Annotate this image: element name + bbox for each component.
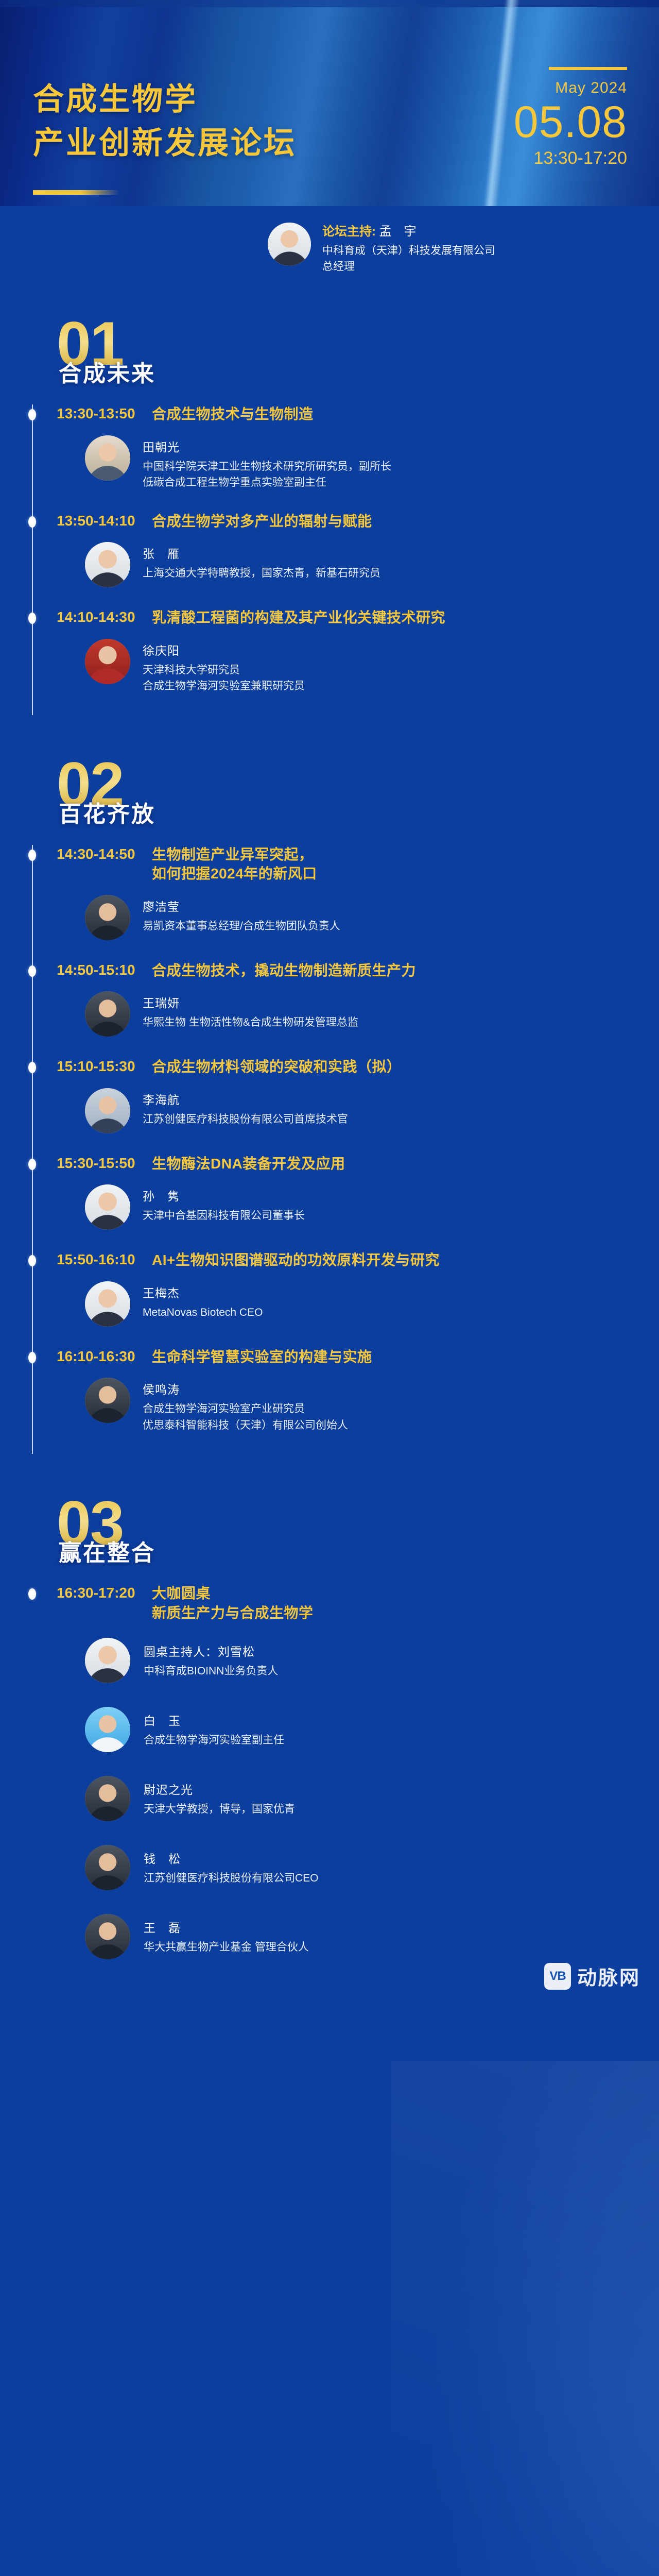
speaker-block: 徐庆阳 天津科技大学研究员 合成生物学海河实验室兼职研究员 — [57, 639, 659, 694]
speaker-block: 廖洁莹 易凯资本董事总经理/合成生物团队负责人 — [57, 895, 659, 940]
speaker-name: 侯鸣涛 — [143, 1380, 348, 1397]
session-time: 16:10-16:30 — [57, 1347, 152, 1366]
timeline-dot-icon — [28, 409, 36, 420]
roundtable-participants: 圆桌主持人：刘雪松 中科育成BIOINN业务负责人 白 玉 合成生物学海河实验室… — [57, 1638, 659, 1959]
session-time: 14:30-14:50 — [57, 845, 152, 864]
speaker-block: 王梅杰 MetaNovas Biotech CEO — [57, 1281, 659, 1327]
participant-org: 华大共赢生物产业基金 管理合伙人 — [144, 1940, 309, 1955]
session-time: 13:30-13:50 — [57, 404, 152, 423]
session-title: 合成生物技术，撬动生物制造新质生产力 — [152, 962, 416, 978]
section-title: 赢在整合 — [59, 1534, 155, 1567]
timeline-dot-icon — [28, 516, 36, 528]
avatar — [85, 435, 130, 481]
event-month: May 2024 — [514, 79, 627, 97]
participant-name: 白 玉 — [144, 1711, 284, 1728]
session-time: 14:10-14:30 — [57, 608, 152, 627]
session-title: 生物制造产业异军突起， — [152, 846, 314, 862]
event-day: 05.08 — [514, 100, 627, 144]
speaker-block: 侯鸣涛 合成生物学海河实验室产业研究员 优思泰科智能科技（天津）有限公司创始人 — [57, 1378, 659, 1433]
speaker-org-line2: 优思泰科智能科技（天津）有限公司创始人 — [143, 1417, 348, 1434]
avatar — [85, 991, 130, 1037]
speaker-org: MetaNovas Biotech CEO — [143, 1307, 263, 1318]
session-title: 生命科学智慧实验室的构建与实施 — [152, 1349, 372, 1365]
speaker-name: 张 雁 — [143, 544, 380, 562]
timeline-section-02: 14:30-14:50 生物制造产业异军突起， 如何把握2024年的新风口 廖洁… — [0, 845, 659, 1454]
timeline-dot-icon — [28, 1255, 36, 1266]
session-item[interactable]: 15:10-15:30 合成生物材料领域的突破和实践（拟） 李海航 江苏创健医疗… — [57, 1057, 659, 1154]
participant-org: 天津大学教授，博导，国家优青 — [144, 1802, 295, 1817]
session-title-line2: 如何把握2024年的新风口 — [152, 864, 317, 884]
speaker-org-line2: 合成生物学海河实验室兼职研究员 — [143, 678, 305, 694]
speaker-name: 王瑞妍 — [143, 993, 358, 1011]
avatar — [85, 1845, 130, 1890]
date-rule-decoration — [549, 67, 627, 70]
speaker-name: 孙 隽 — [143, 1187, 305, 1204]
session-time: 16:30-17:20 — [57, 1584, 152, 1603]
header-top-bar — [0, 0, 659, 7]
poster-title: 合成生物学 产业创新发展论坛 — [33, 77, 297, 165]
title-underline-decoration — [33, 190, 119, 195]
list-item: 白 玉 合成生物学海河实验室副主任 — [85, 1707, 659, 1752]
list-item: 钱 松 江苏创健医疗科技股份有限公司CEO — [85, 1845, 659, 1890]
event-date-block: May 2024 05.08 13:30-17:20 — [514, 67, 627, 168]
timeline-section-01: 13:30-13:50 合成生物技术与生物制造 田朝光 中国科学院天津工业生物技… — [0, 404, 659, 715]
speaker-org: 中国科学院天津工业生物技术研究所研究员，副所长 — [143, 461, 391, 472]
avatar — [85, 895, 130, 940]
speaker-name: 廖洁莹 — [143, 897, 340, 914]
timeline-dot-icon — [28, 1352, 36, 1363]
poster-body: 论坛主持: 孟 宇 中科育成（天津）科技发展有限公司 总经理 01 合成未来 1… — [0, 206, 659, 2004]
session-item[interactable]: 15:50-16:10 AI+生物知识图谱驱动的功效原料开发与研究 王梅杰 Me… — [57, 1250, 659, 1347]
session-time: 15:10-15:30 — [57, 1057, 152, 1076]
avatar — [85, 1378, 130, 1423]
speaker-org: 天津科技大学研究员 — [143, 664, 240, 676]
participant-org: 合成生物学海河实验室副主任 — [144, 1733, 284, 1748]
section-header-02: 02 百花齐放 — [57, 753, 659, 845]
session-time: 15:30-15:50 — [57, 1154, 152, 1173]
brand-name: 动脉网 — [577, 1962, 640, 1990]
participant-name: 圆桌主持人：刘雪松 — [144, 1642, 278, 1659]
session-title: 合成生物技术与生物制造 — [152, 406, 314, 422]
event-time-range: 13:30-17:20 — [514, 148, 627, 168]
session-time: 14:50-15:10 — [57, 961, 152, 980]
speaker-name: 王梅杰 — [143, 1283, 263, 1301]
brand-watermark: VB 动脉网 — [544, 1962, 640, 1990]
avatar — [85, 1281, 130, 1327]
speaker-name: 田朝光 — [143, 437, 391, 455]
session-item[interactable]: 15:30-15:50 生物酶法DNA装备开发及应用 孙 隽 天津中合基因科技有… — [57, 1154, 659, 1251]
roundtable-session[interactable]: 16:30-17:20 大咖圆桌 新质生产力与合成生物学 圆桌主持人：刘雪松 中… — [57, 1584, 659, 2004]
host-label: 论坛主持: — [322, 225, 376, 239]
session-time: 15:50-16:10 — [57, 1250, 152, 1269]
timeline-dot-icon — [28, 1062, 36, 1073]
speaker-org: 江苏创健医疗科技股份有限公司首席技术官 — [143, 1113, 348, 1125]
session-item[interactable]: 16:10-16:30 生命科学智慧实验室的构建与实施 侯鸣涛 合成生物学海河实… — [57, 1347, 659, 1454]
avatar — [85, 1914, 130, 1959]
speaker-org: 上海交通大学特聘教授，国家杰青，新基石研究员 — [143, 567, 380, 579]
session-title-line2: 新质生产力与合成生物学 — [152, 1603, 314, 1623]
participant-name: 王 磊 — [144, 1918, 309, 1936]
timeline-section-03: 16:30-17:20 大咖圆桌 新质生产力与合成生物学 圆桌主持人：刘雪松 中… — [0, 1584, 659, 2004]
timeline-dot-icon — [28, 1159, 36, 1170]
list-item: 圆桌主持人：刘雪松 中科育成BIOINN业务负责人 — [85, 1638, 659, 1683]
avatar — [85, 1184, 130, 1230]
poster-header: 合成生物学 产业创新发展论坛 May 2024 05.08 13:30-17:2… — [0, 0, 659, 206]
timeline-dot-icon — [28, 850, 36, 861]
session-item[interactable]: 13:30-13:50 合成生物技术与生物制造 田朝光 中国科学院天津工业生物技… — [57, 404, 659, 512]
session-title: 合成生物材料领域的突破和实践（拟） — [152, 1059, 402, 1075]
session-title: 生物酶法DNA装备开发及应用 — [152, 1156, 345, 1172]
speaker-name: 李海航 — [143, 1090, 348, 1108]
speaker-org: 合成生物学海河实验室产业研究员 — [143, 1403, 305, 1415]
section-title: 百花齐放 — [59, 795, 155, 828]
background-sheen-decoration — [391, 2061, 659, 2576]
speaker-name: 徐庆阳 — [143, 641, 305, 658]
poster-title-line1: 合成生物学 — [33, 82, 198, 116]
speaker-block: 李海航 江苏创健医疗科技股份有限公司首席技术官 — [57, 1088, 659, 1133]
avatar — [85, 639, 130, 684]
section-header-03: 03 赢在整合 — [57, 1492, 659, 1584]
participant-org: 中科育成BIOINN业务负责人 — [144, 1664, 278, 1679]
list-item: 尉迟之光 天津大学教授，博导，国家优青 — [85, 1776, 659, 1821]
timeline-dot-icon — [28, 1588, 36, 1600]
participant-org: 江苏创健医疗科技股份有限公司CEO — [144, 1871, 319, 1886]
session-title: 合成生物学对多产业的辐射与赋能 — [152, 513, 372, 529]
speaker-block: 孙 隽 天津中合基因科技有限公司董事长 — [57, 1184, 659, 1230]
speaker-block: 王瑞妍 华熙生物 生物活性物&合成生物研发管理总监 — [57, 991, 659, 1037]
host-org: 中科育成（天津）科技发展有限公司 — [322, 245, 495, 257]
timeline-dot-icon — [28, 965, 36, 977]
avatar — [85, 1776, 130, 1821]
session-title: 乳清酸工程菌的构建及其产业化关键技术研究 — [152, 609, 445, 625]
timeline-dot-icon — [28, 613, 36, 624]
section-header-01: 01 合成未来 — [57, 313, 659, 404]
poster-title-line2: 产业创新发展论坛 — [33, 121, 297, 165]
avatar — [268, 223, 311, 266]
session-title: AI+生物知识图谱驱动的功效原料开发与研究 — [152, 1252, 440, 1268]
host-name: 孟 宇 — [379, 225, 417, 239]
host-org-line2: 总经理 — [322, 261, 355, 273]
speaker-block: 田朝光 中国科学院天津工业生物技术研究所研究员，副所长 低碳合成工程生物学重点实… — [57, 435, 659, 491]
avatar — [85, 1638, 130, 1683]
speaker-block: 张 雁 上海交通大学特聘教授，国家杰青，新基石研究员 — [57, 542, 659, 587]
vb-logo-icon: VB — [544, 1963, 571, 1990]
session-item[interactable]: 13:50-14:10 合成生物学对多产业的辐射与赋能 张 雁 上海交通大学特聘… — [57, 512, 659, 608]
speaker-org-line2: 低碳合成工程生物学重点实验室副主任 — [143, 474, 391, 491]
avatar — [85, 542, 130, 587]
session-item[interactable]: 14:30-14:50 生物制造产业异军突起， 如何把握2024年的新风口 廖洁… — [57, 845, 659, 961]
forum-host: 论坛主持: 孟 宇 中科育成（天津）科技发展有限公司 总经理 — [0, 206, 659, 275]
session-time: 13:50-14:10 — [57, 512, 152, 531]
participant-name: 尉迟之光 — [144, 1780, 295, 1798]
speaker-org: 天津中合基因科技有限公司董事长 — [143, 1210, 305, 1222]
session-item[interactable]: 14:10-14:30 乳清酸工程菌的构建及其产业化关键技术研究 徐庆阳 天津科… — [57, 608, 659, 715]
avatar — [85, 1707, 130, 1752]
list-item: 王 磊 华大共赢生物产业基金 管理合伙人 — [85, 1914, 659, 1959]
avatar — [85, 1088, 130, 1133]
timeline-rail — [32, 404, 33, 715]
participant-name: 钱 松 — [144, 1849, 319, 1867]
section-title: 合成未来 — [59, 355, 155, 388]
speaker-org: 华熙生物 生物活性物&合成生物研发管理总监 — [143, 1016, 358, 1028]
session-title: 大咖圆桌 — [152, 1585, 211, 1601]
session-item[interactable]: 14:50-15:10 合成生物技术，撬动生物制造新质生产力 王瑞妍 华熙生物 … — [57, 961, 659, 1058]
speaker-org: 易凯资本董事总经理/合成生物团队负责人 — [143, 920, 340, 932]
